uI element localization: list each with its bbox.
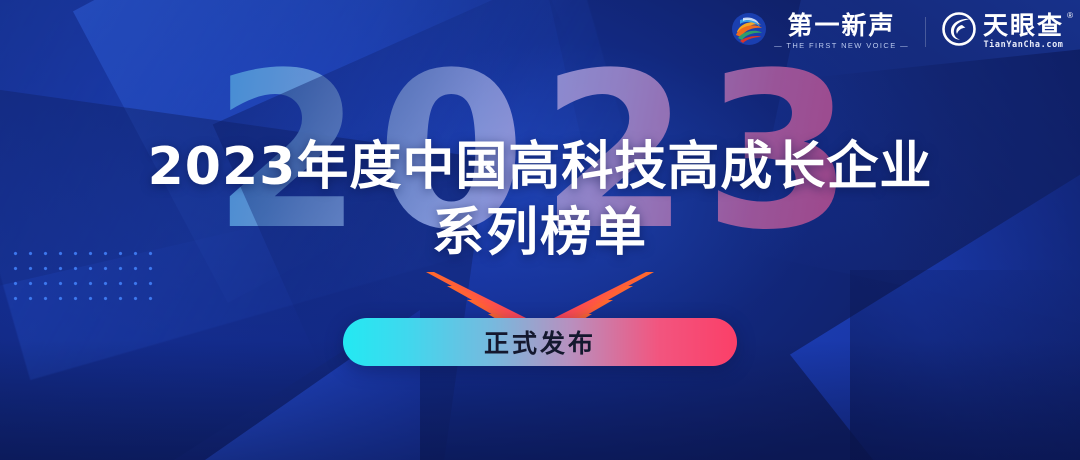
headline-line-1: 2023年度中国高科技高成长企业 (0, 136, 1080, 198)
logo-tianyancha-name: 天眼查 (983, 13, 1064, 38)
camera-aperture-logo-icon (942, 12, 976, 51)
logo-divider (925, 17, 926, 47)
logo-tianyancha[interactable]: 天眼查 TianYanCha.com ® (942, 12, 1064, 51)
logo-diyixinsheng-tagline: — THE FIRST NEW VOICE — (774, 42, 909, 50)
release-cta-button[interactable]: 正式发布 (343, 318, 737, 366)
logo-diyixinsheng-name: 第一新声 (788, 13, 896, 38)
logo-diyixinsheng-text: 第一新声 — THE FIRST NEW VOICE — (774, 13, 909, 50)
poster-canvas: 2023 2023年度中国高科技高成长企业 系列榜单 正式发布 (0, 0, 1080, 460)
partner-logo-bar: 第一新声 — THE FIRST NEW VOICE — 天眼查 TianYan… (731, 12, 1064, 51)
bg-facet-bottom-left-back (0, 320, 350, 460)
swirl-ribbon-logo-icon (731, 12, 767, 51)
headline-line-2: 系列榜单 (0, 202, 1080, 264)
poster-headline: 2023年度中国高科技高成长企业 系列榜单 (0, 136, 1080, 264)
logo-diyixinsheng[interactable]: 第一新声 — THE FIRST NEW VOICE — (731, 12, 909, 51)
bg-facet-right-bottom (850, 270, 1080, 460)
logo-tianyancha-domain: TianYanCha.com (983, 41, 1063, 50)
logo-tianyancha-text: 天眼查 TianYanCha.com ® (983, 13, 1064, 50)
trademark-icon: ® (1067, 11, 1073, 20)
release-cta-label: 正式发布 (484, 324, 596, 360)
